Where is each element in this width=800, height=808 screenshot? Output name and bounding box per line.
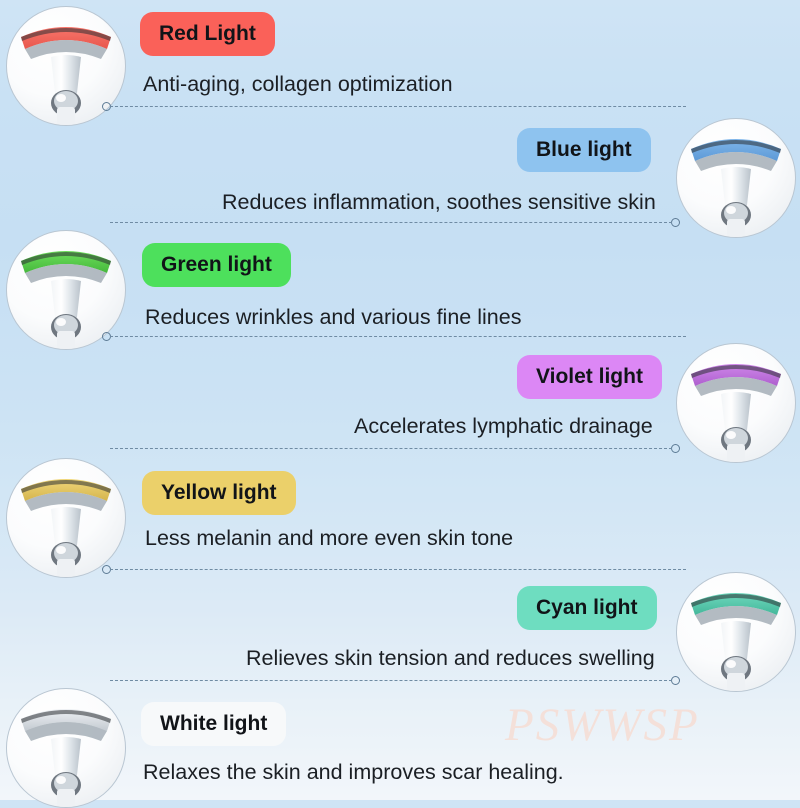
separator-yellow — [102, 565, 686, 575]
separator-dot-cyan — [671, 676, 680, 685]
product-photo-blue — [676, 118, 796, 238]
separator-red — [102, 102, 686, 112]
badge-white: White light — [141, 702, 286, 746]
device-illustration-cyan — [677, 573, 795, 691]
badge-violet: Violet light — [517, 355, 662, 399]
description-cyan: Relieves skin tension and reduces swelli… — [246, 646, 655, 671]
device-illustration-yellow — [7, 459, 125, 577]
description-blue: Reduces inflammation, soothes sensitive … — [222, 190, 656, 215]
product-photo-white — [6, 688, 126, 808]
separator-line-green — [110, 336, 686, 337]
badge-green: Green light — [142, 243, 291, 287]
separator-line-cyan — [110, 680, 672, 681]
badge-red: Red Light — [140, 12, 275, 56]
separator-line-yellow — [110, 569, 686, 570]
infographic-canvas: Red Light Anti-aging, collagen optimizat… — [0, 0, 800, 800]
watermark-pswwsp: PSWWSP — [505, 698, 700, 752]
separator-dot-violet — [671, 444, 680, 453]
device-illustration-blue — [677, 119, 795, 237]
description-green: Reduces wrinkles and various fine lines — [145, 305, 521, 330]
separator-green — [102, 332, 686, 342]
separator-blue — [110, 218, 680, 228]
description-yellow: Less melanin and more even skin tone — [145, 526, 513, 551]
badge-blue: Blue light — [517, 128, 651, 172]
device-illustration-white — [7, 689, 125, 807]
product-photo-violet — [676, 343, 796, 463]
badge-cyan: Cyan light — [517, 586, 657, 630]
separator-violet — [110, 444, 680, 454]
badge-yellow: Yellow light — [142, 471, 296, 515]
description-red: Anti-aging, collagen optimization — [143, 72, 453, 97]
description-white: Relaxes the skin and improves scar heali… — [143, 760, 564, 785]
product-photo-yellow — [6, 458, 126, 578]
description-violet: Accelerates lymphatic drainage — [354, 414, 653, 439]
separator-dot-blue — [671, 218, 680, 227]
separator-cyan — [110, 676, 680, 686]
separator-line-blue — [110, 222, 672, 223]
separator-line-red — [110, 106, 686, 107]
product-photo-cyan — [676, 572, 796, 692]
separator-line-violet — [110, 448, 672, 449]
device-illustration-violet — [677, 344, 795, 462]
